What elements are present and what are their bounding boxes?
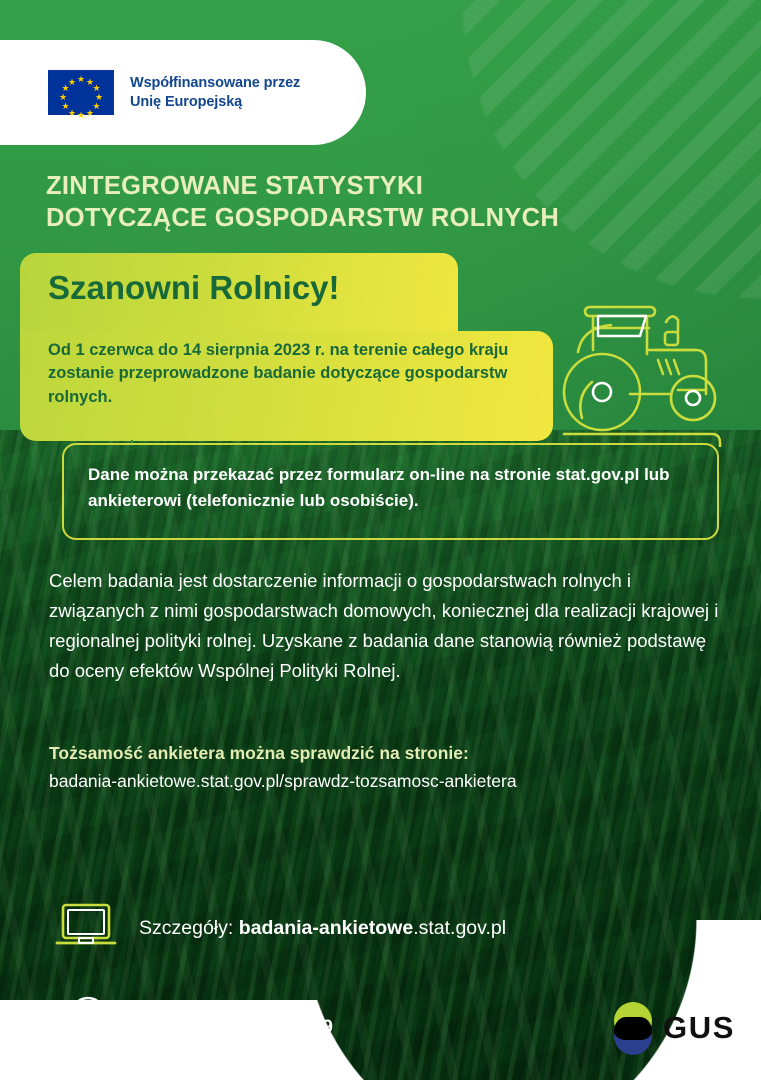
poster-title-line1: ZINTEGROWANE STATYSTYKI xyxy=(46,170,646,202)
laptop-icon xyxy=(55,902,117,955)
details-row: Szczegóły: badania-ankietowe.stat.gov.pl xyxy=(55,902,506,955)
callout-heading: Szanowni Rolnicy! xyxy=(48,271,468,304)
gus-logo: GUS xyxy=(611,1000,735,1056)
gus-logo-wordmark: GUS xyxy=(663,1010,735,1046)
poster-root: ★ ★ ★ ★ ★ ★ ★ ★ ★ ★ ★ ★ Współfinansowane… xyxy=(0,0,761,1080)
body-paragraph: Celem badania jest dostarczenie informac… xyxy=(49,566,729,686)
details-text: Szczegóły: badania-ankietowe.stat.gov.pl xyxy=(139,917,506,940)
identity-check-heading: Tożsamość ankietera można sprawdzić na s… xyxy=(49,740,739,766)
eu-funding-badge: ★ ★ ★ ★ ★ ★ ★ ★ ★ ★ ★ ★ Współfinansowane… xyxy=(0,40,366,145)
eu-badge-text: Współfinansowane przez Unię Europejską xyxy=(130,74,300,111)
online-form-box: Dane można przekazać przez formularz on-… xyxy=(62,443,719,540)
callout-body: Od 1 czerwca do 14 sierpnia 2023 r. na t… xyxy=(48,339,548,409)
eu-badge-line1: Współfinansowane przez xyxy=(130,74,300,93)
online-form-text: Dane można przekazać przez formularz on-… xyxy=(88,462,708,514)
identity-check-url[interactable]: badania-ankietowe.stat.gov.pl/sprawdz-to… xyxy=(49,768,749,794)
eu-flag-icon: ★ ★ ★ ★ ★ ★ ★ ★ ★ ★ ★ ★ xyxy=(48,70,114,115)
gus-logo-mark-icon xyxy=(611,1000,657,1056)
details-domain-bold: badania-ankietowe xyxy=(239,917,413,939)
tractor-icon xyxy=(560,282,755,447)
poster-title: ZINTEGROWANE STATYSTYKI DOTYCZĄCE GOSPOD… xyxy=(46,170,646,234)
eu-badge-line2: Unię Europejską xyxy=(130,93,300,112)
details-label: Szczegóły: xyxy=(139,917,239,939)
highlight-callout: Szanowni Rolnicy! Od 1 czerwca do 14 sie… xyxy=(20,253,553,441)
poster-title-line2: DOTYCZĄCE GOSPODARSTW ROLNYCH xyxy=(46,202,646,234)
